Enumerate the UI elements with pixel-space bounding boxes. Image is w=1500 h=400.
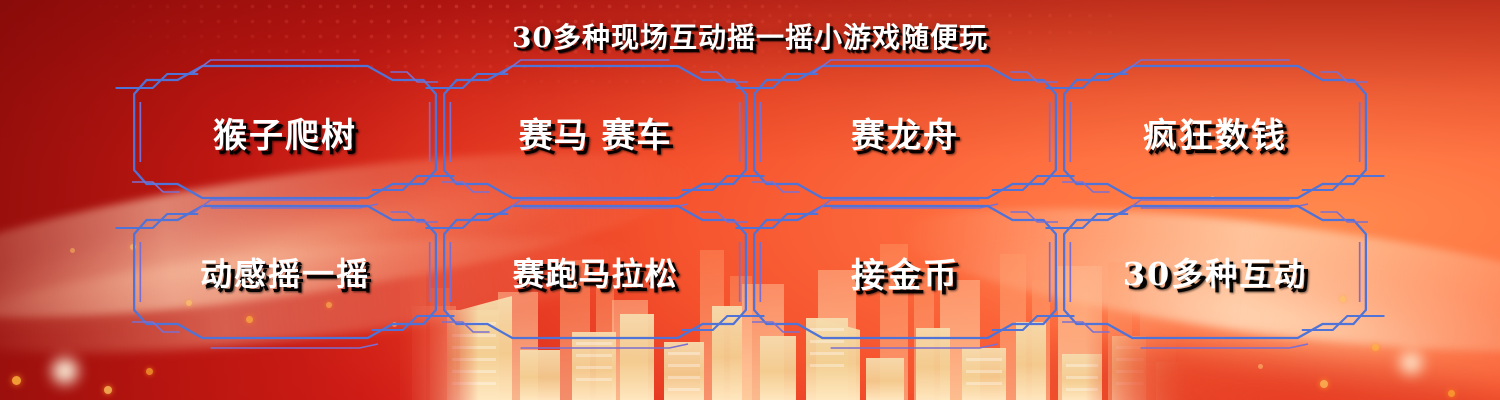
page-title: 30多种现场互动摇一摇小游戏随便玩 — [0, 16, 1500, 56]
game-tile-horse-car-race[interactable]: 赛马 赛车 — [440, 62, 750, 202]
game-tile-thirty-plus-interactions[interactable]: 30多种互动 — [1060, 202, 1370, 342]
game-tile-monkey-climb[interactable]: 猴子爬树 — [130, 62, 440, 202]
game-tile-label: 疯狂数钱 — [1143, 108, 1287, 157]
game-tile-marathon-run[interactable]: 赛跑马拉松 — [440, 202, 750, 342]
game-tile-label: 30多种互动 — [1123, 249, 1308, 295]
game-tile-label: 猴子爬树 — [213, 108, 357, 157]
promo-banner: 30多种现场互动摇一摇小游戏随便玩 — [0, 0, 1500, 400]
game-tile-dynamic-shake[interactable]: 动感摇一摇 — [130, 202, 440, 342]
game-tile-crazy-money-count[interactable]: 疯狂数钱 — [1060, 62, 1370, 202]
game-tile-dragon-boat[interactable]: 赛龙舟 — [750, 62, 1060, 202]
game-tile-label: 赛龙舟 — [851, 108, 959, 157]
game-tile-label: 接金币 — [851, 248, 959, 297]
game-tile-label: 赛跑马拉松 — [512, 249, 677, 295]
game-tile-grid: 猴子爬树 赛马 赛车 — [130, 62, 1370, 342]
game-tile-label: 动感摇一摇 — [200, 249, 370, 295]
game-tile-label: 赛马 赛车 — [519, 108, 672, 157]
game-tile-catch-coins[interactable]: 接金币 — [750, 202, 1060, 342]
